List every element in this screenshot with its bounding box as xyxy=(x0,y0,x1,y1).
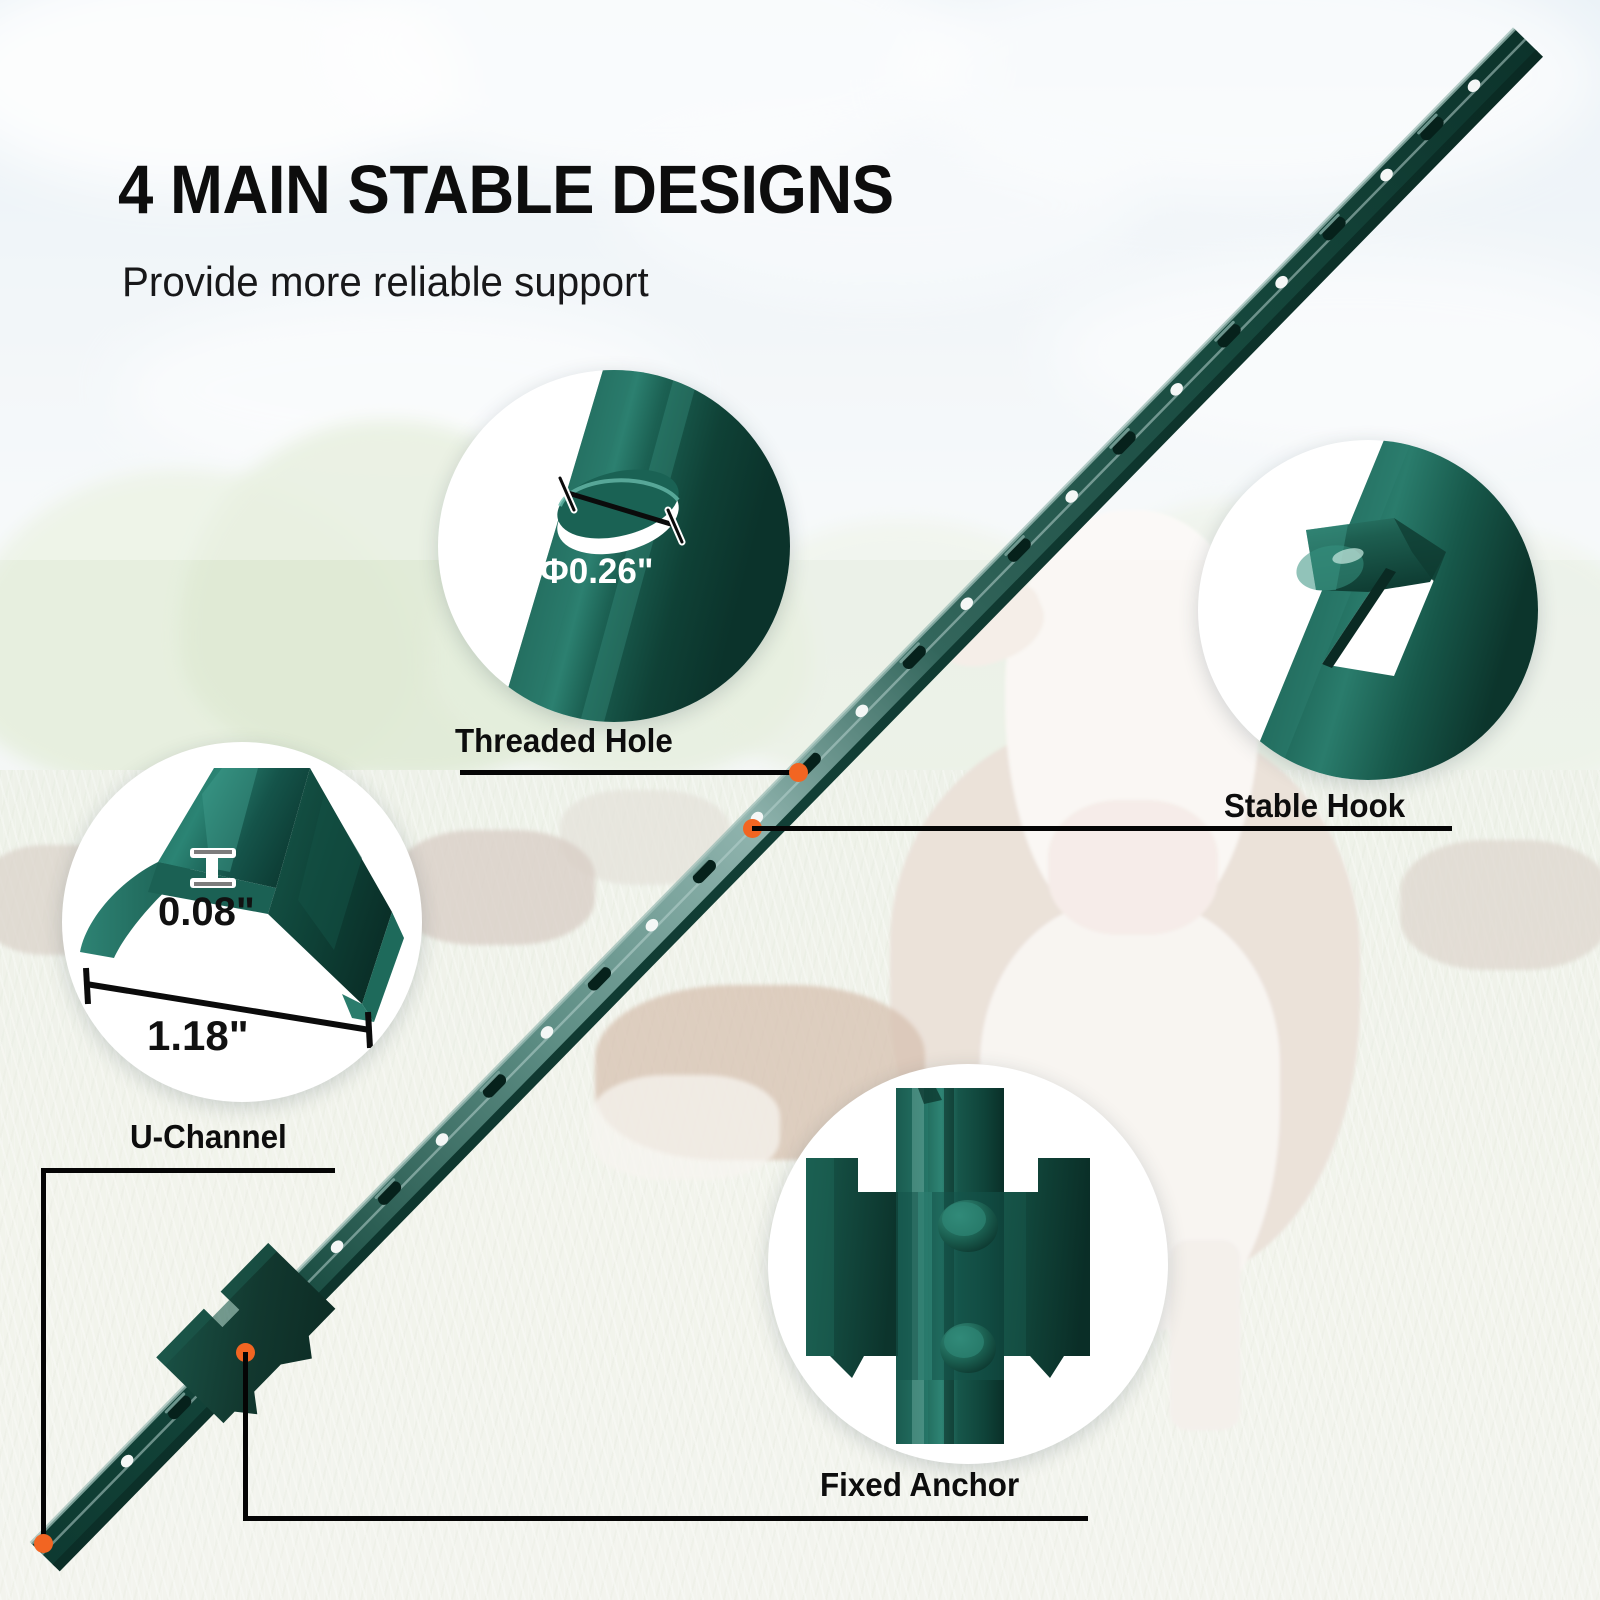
callout-u-channel: 0.08" 1.18" xyxy=(62,742,422,1102)
threaded-hole-dimension-label: Φ0.26" xyxy=(540,552,653,592)
fixed-anchor-illustration xyxy=(768,1064,1168,1464)
leader-line-u-channel-horizontal xyxy=(41,1168,335,1173)
page-subtitle: Provide more reliable support xyxy=(122,258,649,306)
leader-line-fixed-anchor-horizontal xyxy=(243,1516,1088,1521)
u-channel-width-label: 1.18" xyxy=(147,1012,249,1060)
label-stable-hook: Stable Hook xyxy=(1224,787,1405,825)
label-u-channel: U-Channel xyxy=(130,1118,287,1156)
infographic-canvas: Φ0.26" xyxy=(0,0,1600,1600)
label-threaded-hole: Threaded Hole xyxy=(455,722,673,760)
leader-line-threaded-hole xyxy=(460,770,795,775)
label-fixed-anchor: Fixed Anchor xyxy=(820,1466,1019,1504)
anchor-dot-threaded-hole xyxy=(789,763,808,782)
leader-line-stable-hook xyxy=(752,826,1452,831)
leader-line-u-channel-vertical xyxy=(41,1168,46,1543)
threaded-hole-illustration xyxy=(438,370,790,722)
u-channel-thickness-label: 0.08" xyxy=(158,890,255,935)
callout-threaded-hole: Φ0.26" xyxy=(438,370,790,722)
stable-hook-illustration xyxy=(1198,440,1538,780)
callout-stable-hook xyxy=(1198,440,1538,780)
leader-line-fixed-anchor-vertical xyxy=(243,1352,248,1521)
callout-fixed-anchor xyxy=(768,1064,1168,1464)
anchor-dot-u-channel xyxy=(34,1534,53,1553)
page-title: 4 MAIN STABLE DESIGNS xyxy=(118,150,894,229)
